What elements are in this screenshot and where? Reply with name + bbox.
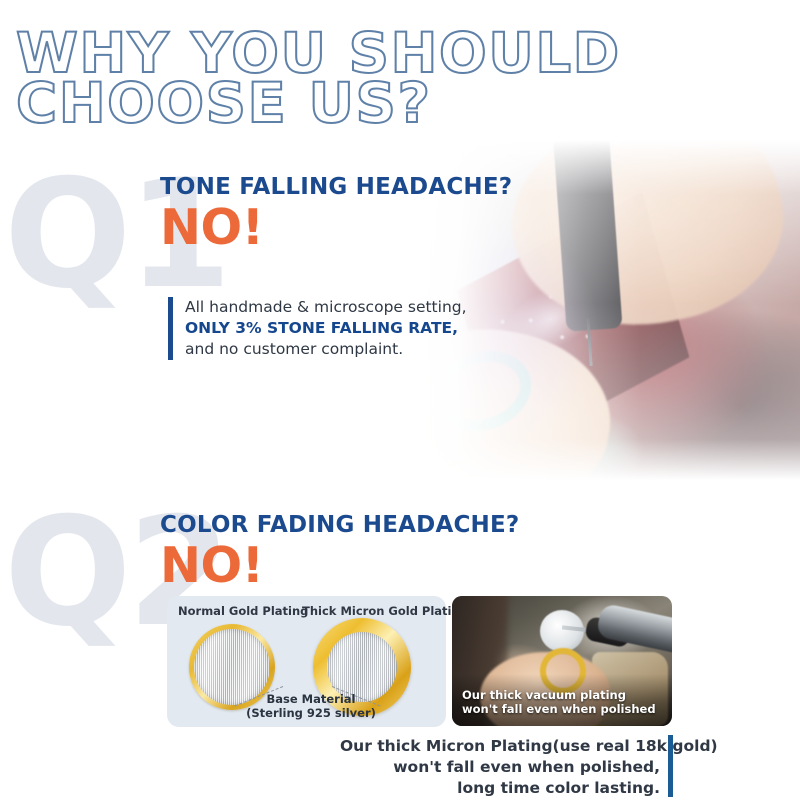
q2-answer: NO! xyxy=(160,540,519,592)
bottom-statement-line-2: won't fall even when polished, xyxy=(340,757,660,778)
caption-line-2: won't fall even when polished xyxy=(462,702,656,716)
q1-quote-line-2-highlight: ONLY 3% STONE FALLING RATE, xyxy=(185,318,467,339)
q1-quote-line-3: and no customer complaint. xyxy=(185,339,467,360)
bottom-accent-bar xyxy=(668,735,673,797)
q1-quote-text: All handmade & microscope setting, ONLY … xyxy=(173,297,467,360)
base-material-line-1: Base Material xyxy=(231,692,391,706)
page-title: WHY YOU SHOULD CHOOSE US? xyxy=(16,28,776,128)
q1-question: TONE FALLING HEADACHE? xyxy=(160,174,512,200)
thick-plating-label: Thick Micron Gold Plating xyxy=(302,604,468,618)
q1-quote-line-1: All handmade & microscope setting, xyxy=(185,297,467,318)
base-material-line-2: (Sterling 925 silver) xyxy=(231,706,391,720)
q2-question: COLOR FADING HEADACHE? xyxy=(160,512,519,538)
base-material-label: Base Material (Sterling 925 silver) xyxy=(231,692,391,720)
caption-line-1: Our thick vacuum plating xyxy=(462,688,656,702)
q2-heading-group: COLOR FADING HEADACHE? NO! xyxy=(160,512,519,592)
bottom-statement-line-3: long time color lasting. xyxy=(340,778,660,799)
gold-plating-comparison-diagram: Normal Gold Plating Thick Micron Gold Pl… xyxy=(167,596,446,727)
bottom-statement: Our thick Micron Plating(use real 18k go… xyxy=(340,736,660,799)
polishing-photo-caption: Our thick vacuum plating won't fall even… xyxy=(462,688,656,716)
polishing-photo: Our thick vacuum plating won't fall even… xyxy=(452,596,672,726)
q1-quote-block: All handmade & microscope setting, ONLY … xyxy=(168,297,467,360)
q1-heading-group: TONE FALLING HEADACHE? NO! xyxy=(160,174,512,254)
q1-answer: NO! xyxy=(160,202,512,254)
normal-plating-label: Normal Gold Plating xyxy=(178,604,308,618)
page-title-line-2: CHOOSE US? xyxy=(16,78,791,128)
bottom-statement-line-1: Our thick Micron Plating(use real 18k go… xyxy=(340,736,660,757)
